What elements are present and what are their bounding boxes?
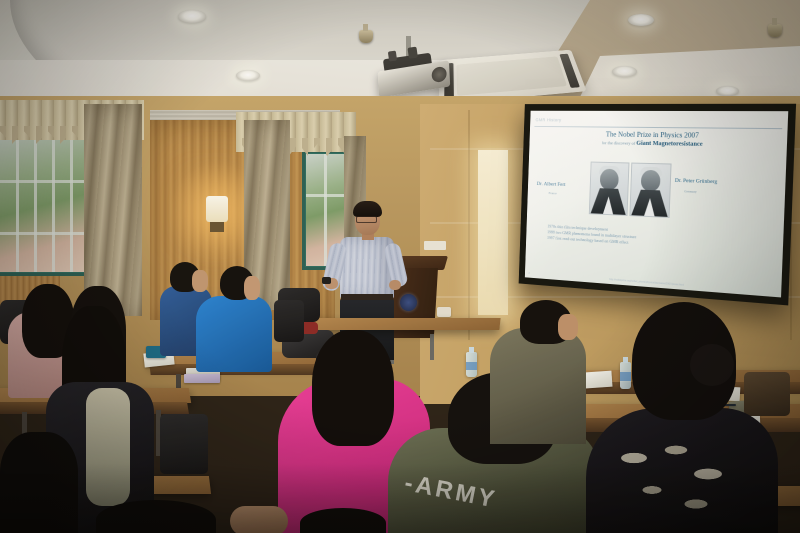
screen-surface: GMR History The Nobel Prize in Physics 2… xyxy=(525,111,788,298)
student-scarf-left xyxy=(86,388,130,506)
lectern-emblem xyxy=(400,294,417,311)
foreground-head-left xyxy=(96,500,216,533)
bottle-label-3 xyxy=(620,372,631,381)
ac-inner-panel xyxy=(456,56,567,95)
light-switch-panel[interactable] xyxy=(424,241,446,250)
chair-1 xyxy=(274,300,304,342)
downlight-5 xyxy=(716,86,739,96)
presentation-remote xyxy=(322,277,331,284)
student-blue-jacket-1-body xyxy=(196,296,272,372)
student-khaki-vest-body xyxy=(490,328,586,444)
screen-glare xyxy=(525,111,788,298)
curtain-left xyxy=(84,104,142,316)
window-glass-left xyxy=(0,132,88,272)
chair-4 xyxy=(744,372,790,416)
window-bar-v5 xyxy=(324,154,327,266)
speaker-hair xyxy=(353,201,382,217)
foreground-head-mid xyxy=(300,508,386,533)
chair-3 xyxy=(160,414,208,474)
lecture-hall-photo: GMR History The Nobel Prize in Physics 2… xyxy=(0,0,800,533)
wall-sconce xyxy=(206,196,228,222)
speaker-belt xyxy=(341,294,393,300)
window-bar-v3 xyxy=(52,132,55,272)
window-bar-v4 xyxy=(70,132,73,272)
downlight-1 xyxy=(178,10,206,23)
window-bar-v2 xyxy=(34,132,37,272)
bottle-label-2 xyxy=(466,362,477,371)
downlight-2 xyxy=(628,14,654,26)
wall-seam-v1 xyxy=(468,110,470,340)
backlit-wall-panel xyxy=(478,150,508,315)
student-blue-jacket-1-face xyxy=(244,276,260,300)
window-bar-h1 xyxy=(0,180,88,183)
water-bottle-3 xyxy=(620,362,631,389)
sprinkler-icon xyxy=(359,30,373,43)
speaker-glasses xyxy=(356,216,377,223)
foreground-hand xyxy=(230,506,288,533)
water-bottle-2 xyxy=(466,352,477,377)
book-2 xyxy=(184,374,220,383)
downlight-4 xyxy=(612,66,637,77)
lectern-leg-right xyxy=(430,334,434,360)
downlight-3 xyxy=(236,70,260,81)
wall-sconce-base xyxy=(210,222,224,232)
speaker-hand-right xyxy=(389,280,401,290)
window-bar-h2 xyxy=(0,232,88,235)
window-left xyxy=(0,128,92,276)
projection-screen: GMR History The Nobel Prize in Physics 2… xyxy=(519,104,796,306)
woman-hair-bun xyxy=(690,344,734,386)
wall-outlet-1[interactable] xyxy=(437,307,451,317)
student-pink-front-hair xyxy=(312,330,394,446)
student-dark-left-hair-3 xyxy=(0,432,78,533)
student-khaki-vest-face xyxy=(558,314,578,340)
sprinkler-icon-right xyxy=(768,24,782,37)
window-bar-v1 xyxy=(16,132,19,272)
desk-row-mid-right xyxy=(299,318,500,330)
student-blue-jacket-2-face xyxy=(192,270,208,292)
embroidery-motif xyxy=(604,430,754,522)
